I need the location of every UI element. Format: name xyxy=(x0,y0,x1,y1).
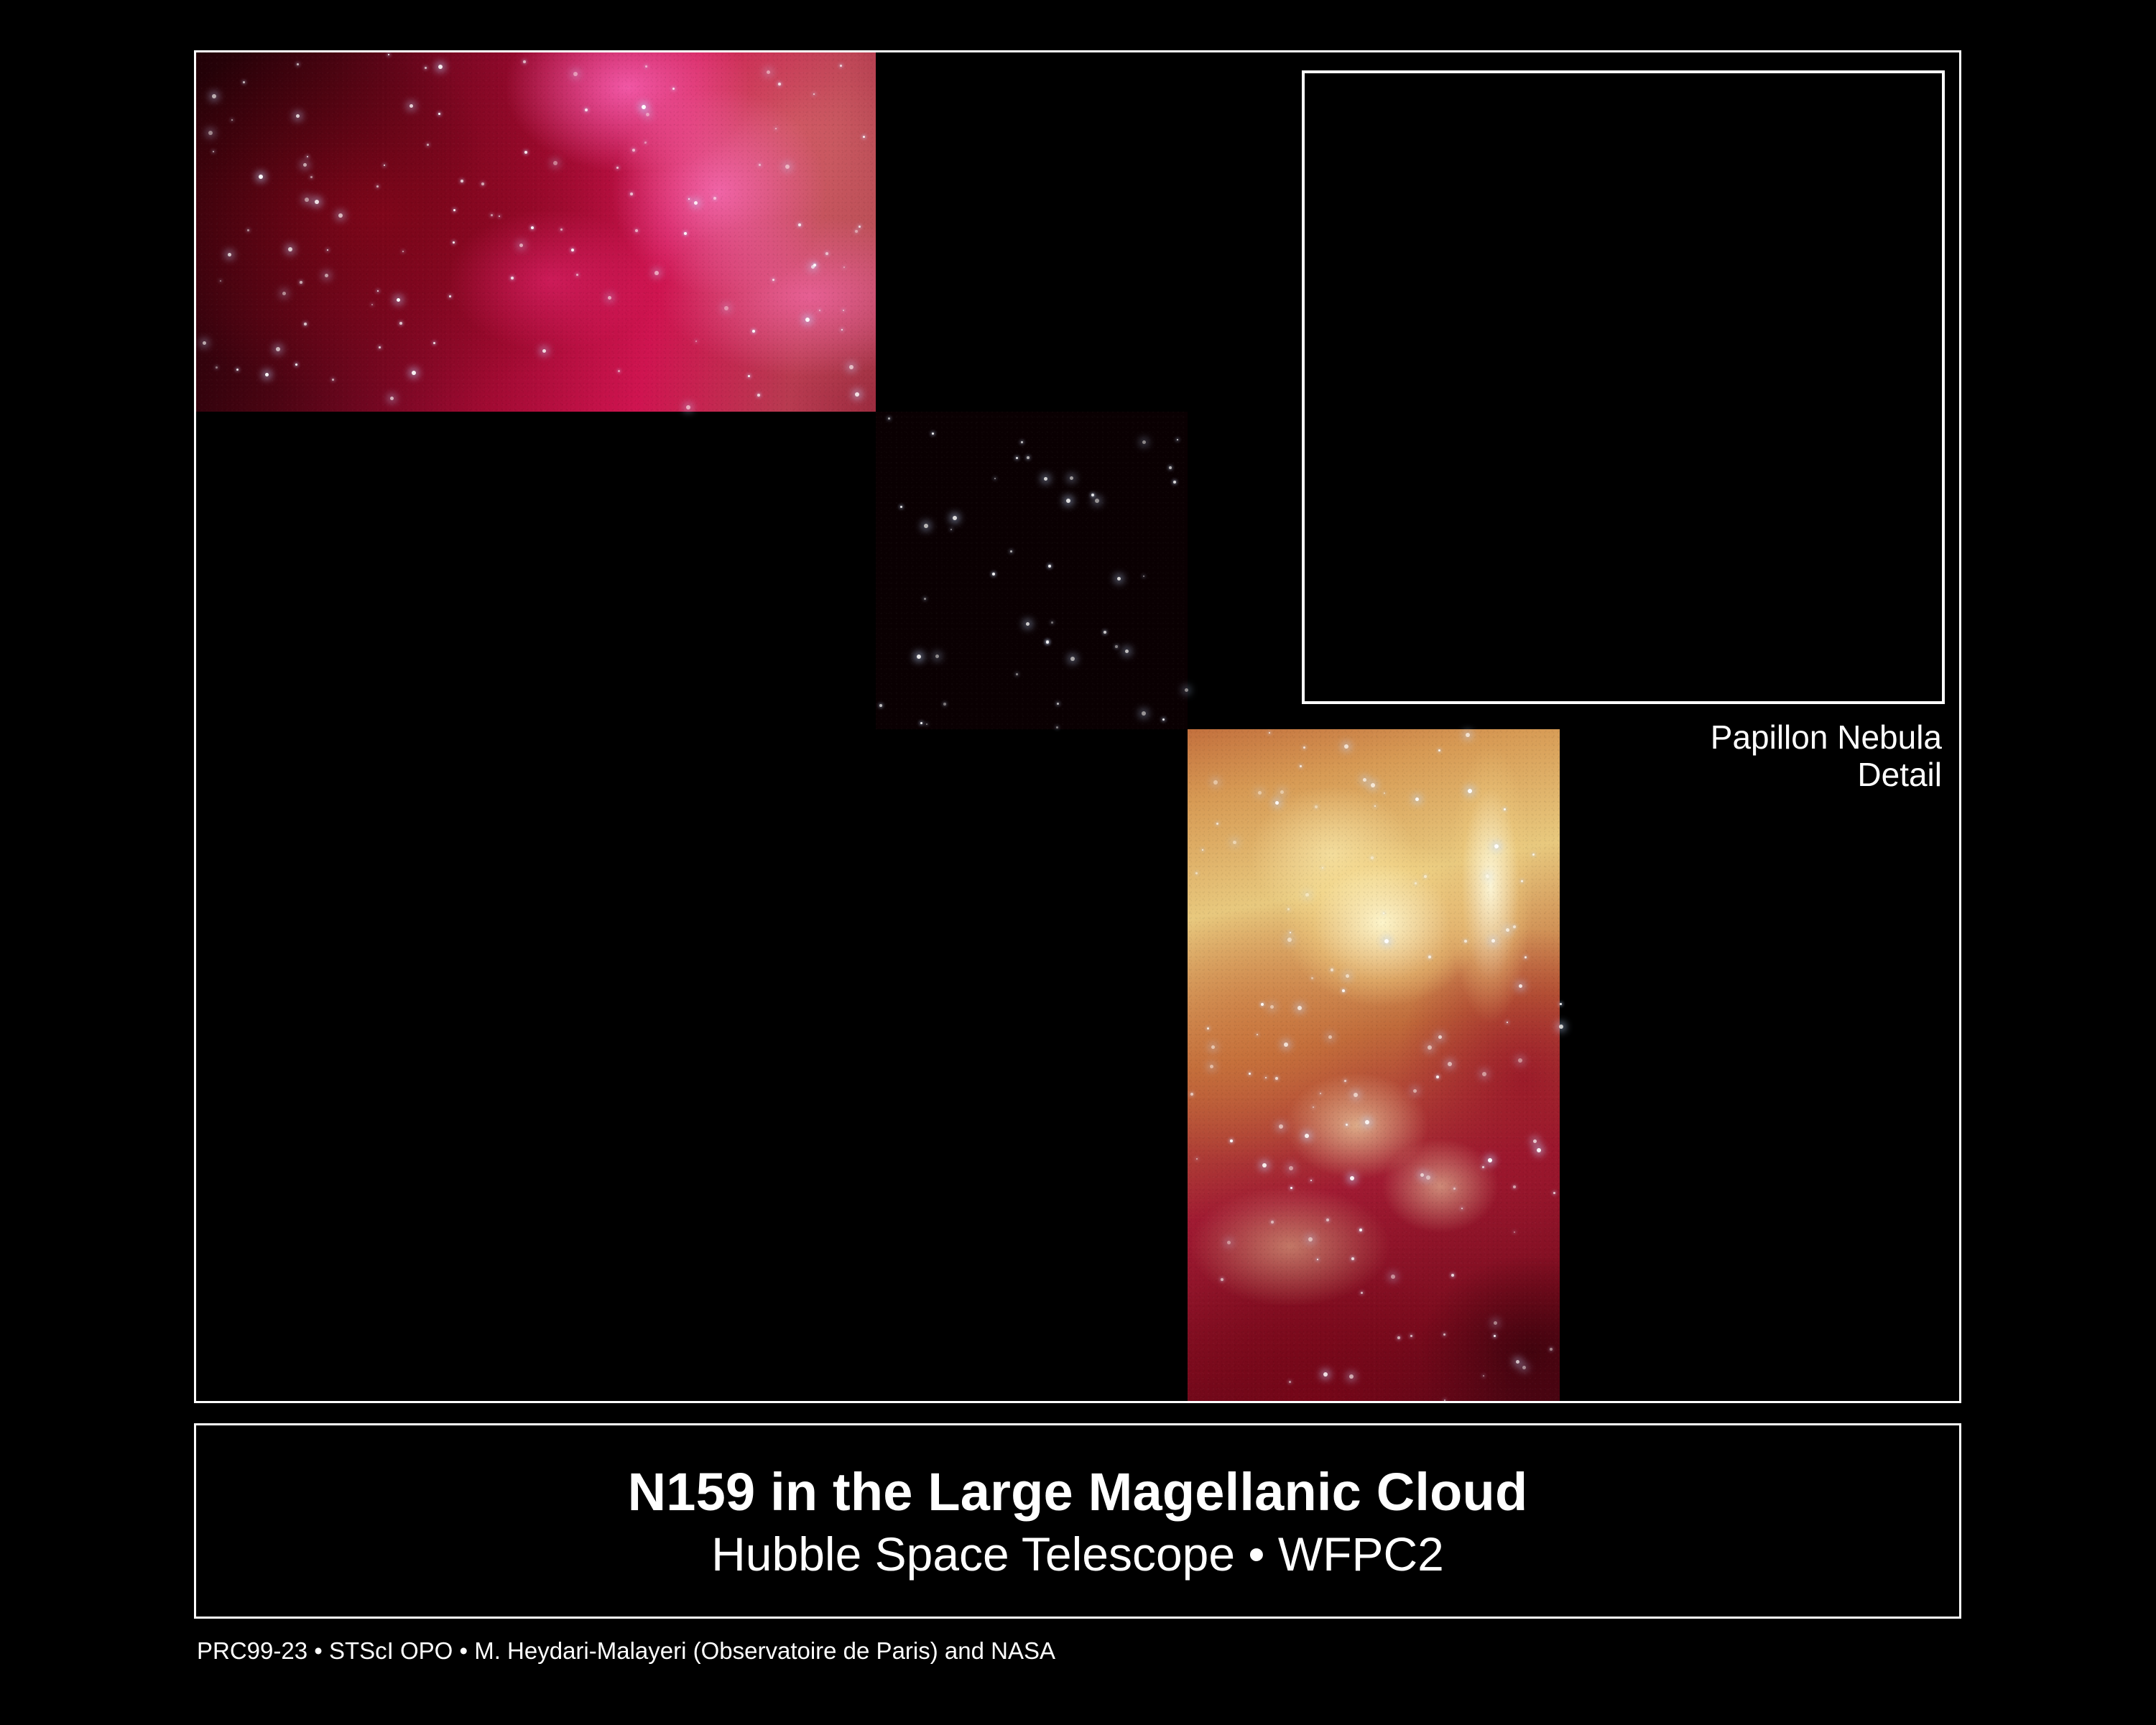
star xyxy=(212,94,216,98)
star xyxy=(644,142,647,144)
star xyxy=(390,397,394,400)
star xyxy=(1117,577,1121,581)
star xyxy=(1363,778,1366,782)
star xyxy=(1196,1158,1198,1160)
star xyxy=(296,114,300,118)
star xyxy=(1279,1124,1283,1129)
star xyxy=(1016,457,1018,459)
star xyxy=(1104,631,1106,634)
star xyxy=(1328,1035,1332,1039)
star xyxy=(1518,1058,1522,1063)
star xyxy=(684,232,687,235)
star xyxy=(481,182,484,185)
star xyxy=(1095,499,1099,503)
star xyxy=(992,573,995,575)
star xyxy=(519,244,523,247)
star xyxy=(1464,940,1467,943)
star xyxy=(213,151,214,152)
mosaic-chip-upper-left xyxy=(196,52,876,412)
star xyxy=(371,304,373,305)
star xyxy=(635,229,638,232)
star xyxy=(307,156,308,157)
star xyxy=(772,279,774,281)
star xyxy=(259,175,263,179)
star xyxy=(1342,989,1345,992)
star xyxy=(616,167,619,169)
star xyxy=(1516,1360,1519,1364)
star xyxy=(1507,1022,1508,1023)
star xyxy=(1258,791,1262,795)
star xyxy=(410,104,413,108)
star xyxy=(461,180,463,182)
star xyxy=(686,405,690,410)
caption-frame: N159 in the Large Magellanic Cloud Hubbl… xyxy=(194,1423,1961,1619)
papillon-inset-caption: Papillon Nebula Detail xyxy=(1530,718,1942,794)
star xyxy=(757,394,760,397)
star xyxy=(1482,1166,1484,1168)
star xyxy=(1287,938,1292,942)
star xyxy=(402,251,404,252)
star xyxy=(1468,789,1472,793)
star xyxy=(1354,1093,1358,1097)
star xyxy=(953,516,957,520)
star xyxy=(1195,872,1198,874)
star xyxy=(1046,640,1049,643)
star xyxy=(1280,790,1284,794)
star xyxy=(1438,1035,1442,1039)
mosaic-chip-lower-right xyxy=(1188,729,1560,1402)
star xyxy=(1346,974,1349,978)
star xyxy=(1513,925,1516,928)
star xyxy=(231,119,233,121)
star xyxy=(388,54,389,55)
star xyxy=(1044,477,1047,481)
star xyxy=(1424,875,1427,878)
star xyxy=(1438,749,1440,751)
star xyxy=(208,131,213,135)
star xyxy=(841,329,843,330)
star xyxy=(1297,1006,1302,1010)
star xyxy=(1275,801,1279,805)
star xyxy=(573,72,578,76)
star xyxy=(327,249,328,251)
page-subtitle: Hubble Space Telescope • WFPC2 xyxy=(711,1527,1444,1581)
star xyxy=(1303,746,1305,749)
nebula-gradient-layer xyxy=(876,412,1188,729)
star xyxy=(1410,1335,1412,1337)
star xyxy=(1383,912,1384,914)
star xyxy=(1365,1120,1369,1124)
star xyxy=(1249,1073,1251,1075)
star xyxy=(1257,1034,1258,1035)
star xyxy=(427,144,429,146)
star xyxy=(863,136,865,138)
star xyxy=(1207,1027,1209,1030)
star xyxy=(453,241,455,244)
star xyxy=(748,375,750,377)
star xyxy=(688,198,690,200)
star xyxy=(228,253,231,256)
star xyxy=(300,281,302,284)
nebula-gradient-layer xyxy=(196,52,876,412)
star xyxy=(1271,1221,1274,1224)
star xyxy=(305,198,309,202)
papillon-inset-frame xyxy=(1302,70,1945,704)
star xyxy=(917,655,921,659)
star xyxy=(1230,1139,1233,1142)
star xyxy=(1142,711,1146,716)
screenshot-root: Papillon Nebula Detail N159 in the Large… xyxy=(0,0,2156,1725)
star xyxy=(1559,1025,1563,1029)
star xyxy=(1488,1158,1492,1162)
star xyxy=(412,371,416,375)
star xyxy=(1290,1187,1292,1189)
star xyxy=(1444,1400,1445,1401)
star xyxy=(288,247,292,251)
star xyxy=(630,193,633,195)
star xyxy=(216,366,218,369)
star xyxy=(1310,1180,1312,1181)
star xyxy=(1185,688,1188,692)
star xyxy=(1361,1292,1363,1294)
star xyxy=(1560,1003,1562,1005)
star xyxy=(499,216,500,217)
credit-line: PRC99-23 • STScI OPO • M. Heydari-Malaye… xyxy=(197,1637,1055,1665)
star xyxy=(310,176,313,178)
star xyxy=(775,128,777,129)
star xyxy=(1344,744,1348,749)
star xyxy=(994,478,996,479)
star xyxy=(399,322,402,325)
star xyxy=(879,704,882,707)
star xyxy=(1322,867,1323,869)
star xyxy=(1504,808,1506,810)
star xyxy=(315,200,319,204)
star xyxy=(859,226,861,228)
star xyxy=(1027,456,1030,459)
star xyxy=(785,165,790,169)
star xyxy=(1466,733,1470,737)
star xyxy=(1521,880,1523,882)
star xyxy=(511,277,514,279)
star xyxy=(1021,441,1023,443)
mosaic-chip-middle xyxy=(876,412,1188,729)
star xyxy=(950,529,952,530)
nebula-gradient-layer xyxy=(1188,729,1560,1402)
star xyxy=(645,65,647,68)
star xyxy=(632,149,635,152)
star xyxy=(920,722,922,724)
star xyxy=(1537,1148,1541,1152)
star xyxy=(1323,1372,1328,1377)
star xyxy=(752,330,755,333)
page-title: N159 in the Large Magellanic Cloud xyxy=(628,1461,1528,1522)
star xyxy=(1289,1381,1291,1383)
star xyxy=(924,524,928,528)
star xyxy=(1070,476,1073,480)
star xyxy=(203,341,206,345)
papillon-nebula-image xyxy=(1305,73,1942,701)
star xyxy=(1514,1231,1515,1233)
star xyxy=(1331,968,1333,971)
star xyxy=(1491,939,1495,943)
star xyxy=(926,723,927,725)
star xyxy=(608,296,611,300)
star xyxy=(1142,440,1146,444)
star xyxy=(453,209,455,211)
star xyxy=(618,370,620,372)
star xyxy=(1326,1218,1329,1221)
star xyxy=(297,63,299,65)
star xyxy=(672,88,675,90)
star xyxy=(1070,657,1075,661)
star xyxy=(1532,854,1535,856)
star xyxy=(1227,1241,1231,1244)
star xyxy=(1115,645,1118,648)
star xyxy=(265,373,269,376)
